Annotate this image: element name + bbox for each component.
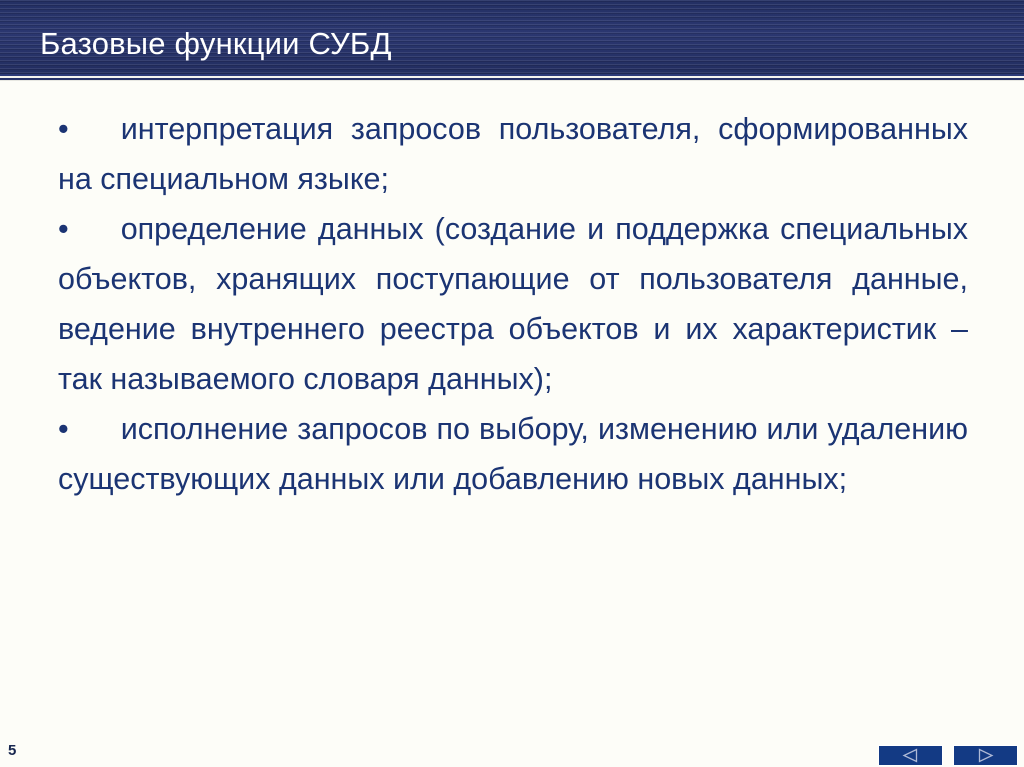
triangle-right-icon	[977, 748, 994, 763]
page-number: 5	[8, 742, 16, 760]
bullet-text-3: исполнение запросов по выбору, изменению…	[58, 412, 968, 496]
bullet-text-2: определение данных (создание и поддержка…	[58, 212, 968, 396]
bullet-marker-icon: •	[58, 104, 69, 154]
header-divider-line-4	[0, 80, 1024, 81]
previous-slide-button[interactable]	[878, 745, 943, 766]
triangle-left-icon	[902, 748, 919, 763]
bullet-text-1: интерпретация запросов пользователя, сфо…	[58, 112, 968, 196]
bullet-marker-icon: •	[58, 204, 69, 254]
next-slide-button[interactable]	[953, 745, 1018, 766]
bullet-item-2: •определение данных (создание и поддержк…	[58, 204, 968, 404]
bullet-item-1: •интерпретация запросов пользователя, сф…	[58, 104, 968, 204]
slide-navigation	[878, 745, 1018, 766]
page-title: Базовые функции СУБД	[40, 24, 392, 64]
slide-body: •интерпретация запросов пользователя, сф…	[58, 104, 968, 504]
bullet-marker-icon: •	[58, 404, 69, 454]
slide-header-banner: Базовые функции СУБД	[0, 0, 1024, 74]
slide: Базовые функции СУБД •интерпретация запр…	[0, 0, 1024, 767]
bullet-item-3: •исполнение запросов по выбору, изменени…	[58, 404, 968, 504]
